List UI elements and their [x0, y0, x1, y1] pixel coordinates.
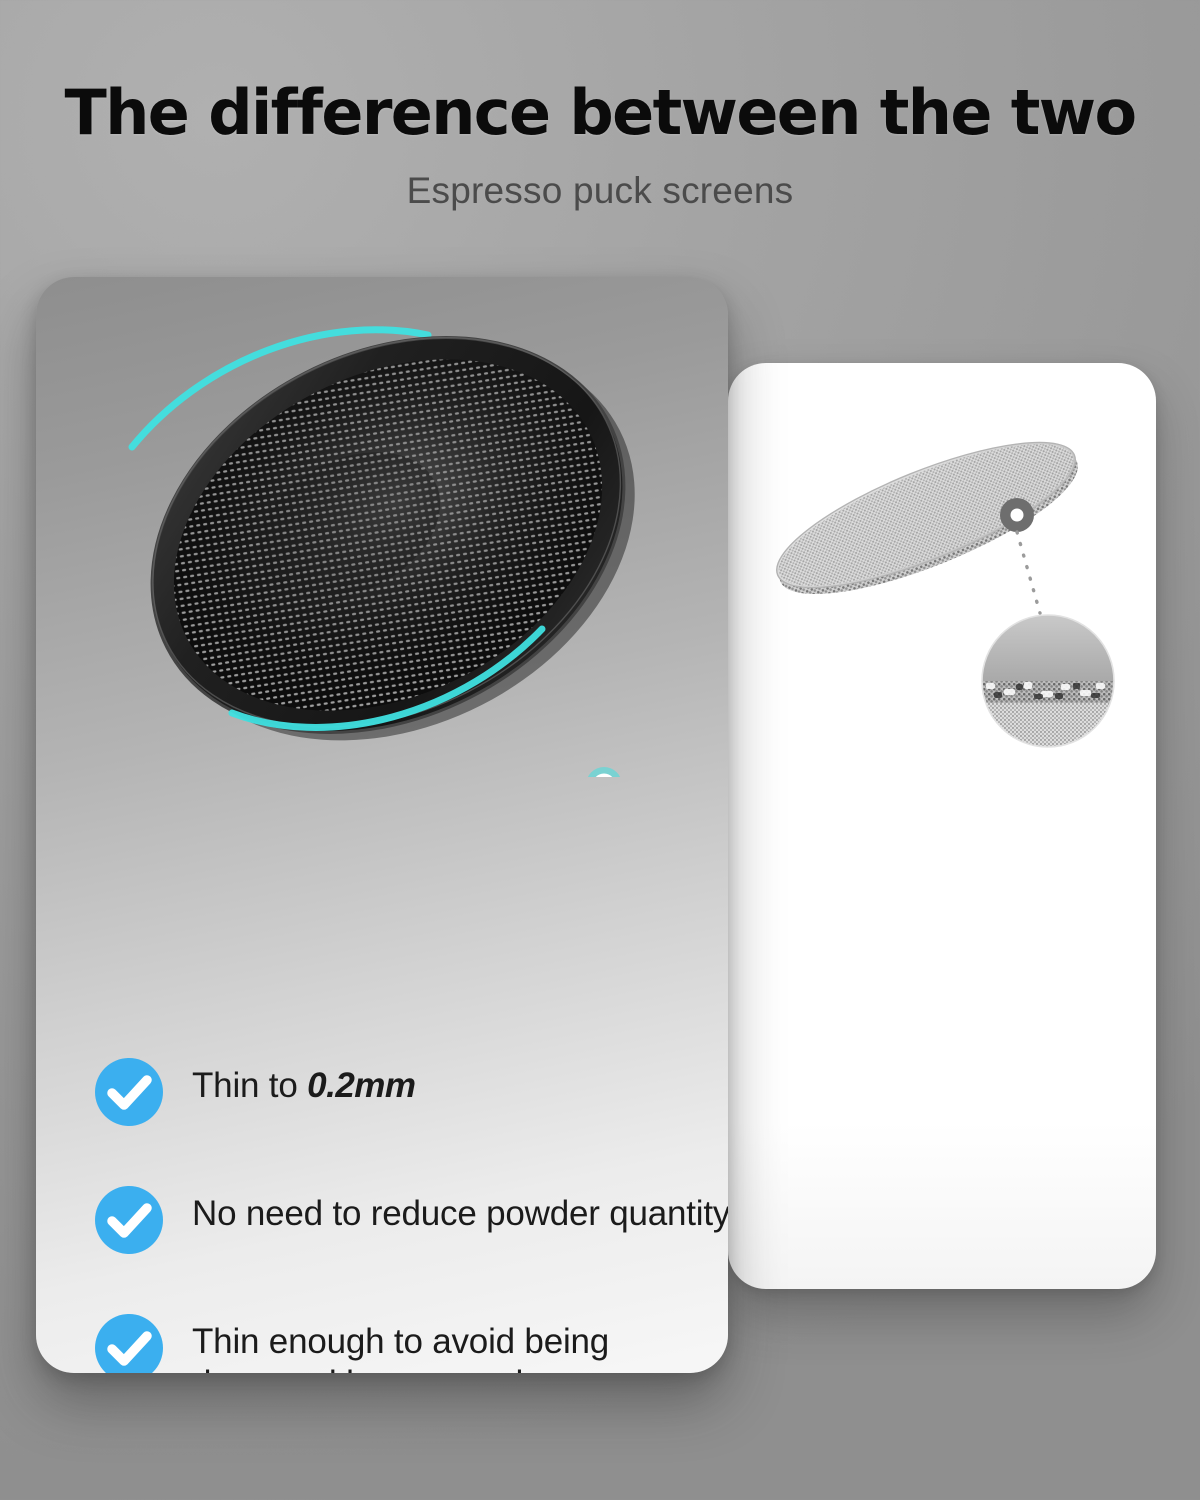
- feature-item: No need to reduce powder quantity: [94, 1185, 728, 1255]
- callout-dot-left: [586, 767, 622, 777]
- feature-text: Thin enough to avoid being damaged by ex…: [192, 1313, 728, 1373]
- feature-emphasis: 0.2mm: [307, 1066, 415, 1105]
- magnified-edge-inset-right: [982, 615, 1114, 749]
- feature-item: Thin enough to avoid being damaged by ex…: [94, 1313, 728, 1373]
- feature-text-before: Thin to: [192, 1066, 307, 1105]
- thin-puck-screen-image: [36, 277, 728, 777]
- feature-text: No need to reduce powder quantity: [192, 1185, 728, 1235]
- comparison-card-normal-screen: Normal: 1.7mm thickness Need to replace …: [728, 363, 1156, 1289]
- callout-dot-right: [1000, 498, 1034, 532]
- feature-text: Thin to 0.2mm: [192, 1057, 416, 1107]
- header: The difference between the two Espresso …: [0, 0, 1200, 212]
- puck-screen-disc: [84, 277, 702, 777]
- feature-list: Thin to 0.2mm No need to reduce powder q…: [94, 1057, 728, 1373]
- page-subtitle: Espresso puck screens: [0, 144, 1200, 212]
- thick-mesh-puck-screen-image: [728, 363, 1156, 763]
- check-icon: [94, 1057, 164, 1127]
- check-icon: [94, 1313, 164, 1373]
- check-icon: [94, 1185, 164, 1255]
- callout-leader-line-right: [1017, 532, 1040, 613]
- comparison-card-thin-screen: Thin to 0.2mm No need to reduce powder q…: [36, 277, 728, 1373]
- page-title: The difference between the two: [0, 0, 1200, 144]
- feature-item: Thin to 0.2mm: [94, 1057, 728, 1127]
